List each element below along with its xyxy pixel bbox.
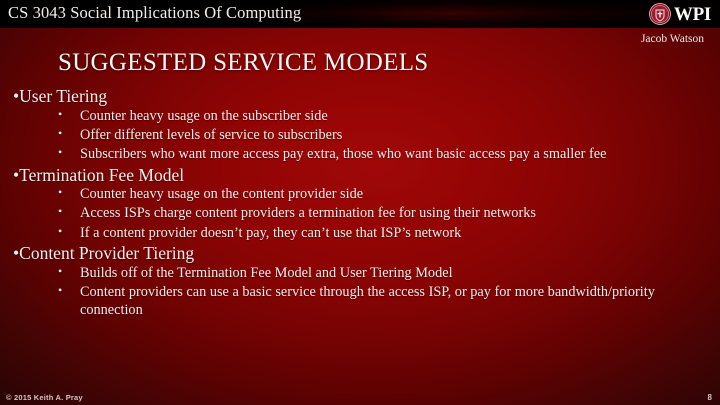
list-item-text: If a content provider doesn’t pay, they …	[80, 225, 461, 241]
sub-bullet-glyph: •	[58, 185, 62, 200]
list-item: •Counter heavy usage on the content prov…	[13, 185, 707, 203]
copyright-notice: © 2015 Keith A. Pray	[6, 393, 83, 402]
list-item-text: Counter heavy usage on the subscriber si…	[80, 108, 328, 124]
sub-bullet-list: •Counter heavy usage on the subscriber s…	[13, 107, 707, 164]
topic-label: Termination Fee Model	[19, 165, 184, 185]
sub-bullet-glyph: •	[58, 107, 62, 122]
topic-group: •User Tiering •Counter heavy usage on th…	[13, 86, 707, 164]
course-title: CS 3043 Social Implications Of Computing	[8, 3, 301, 23]
topic-label: Content Provider Tiering	[19, 243, 194, 263]
list-item-text: Content providers can use a basic servic…	[80, 284, 655, 318]
list-item-text: Access ISPs charge content providers a t…	[80, 205, 536, 221]
sub-bullet-glyph: •	[58, 204, 62, 219]
topic-label: User Tiering	[19, 86, 107, 106]
presenter-name: Jacob Watson	[641, 33, 704, 45]
sub-bullet-glyph: •	[58, 283, 62, 298]
slide-number: 8	[708, 393, 712, 402]
topic-heading: •User Tiering	[13, 86, 707, 107]
sub-bullet-glyph: •	[58, 224, 62, 239]
list-item: •Subscribers who want more access pay ex…	[13, 145, 707, 163]
slide-title: SUGGESTED SERVICE MODELS	[58, 49, 429, 77]
sub-bullet-list: •Counter heavy usage on the content prov…	[13, 185, 707, 242]
list-item-text: Subscribers who want more access pay ext…	[80, 146, 606, 162]
sub-bullet-list: •Builds off of the Termination Fee Model…	[13, 264, 707, 320]
presentation-slide: CS 3043 Social Implications Of Computing…	[0, 0, 720, 405]
list-item: •Counter heavy usage on the subscriber s…	[13, 107, 707, 125]
slide-body: •User Tiering •Counter heavy usage on th…	[13, 86, 707, 321]
list-item-text: Offer different levels of service to sub…	[80, 127, 342, 143]
wpi-logo: WPI	[649, 1, 711, 27]
list-item-text: Counter heavy usage on the content provi…	[80, 186, 363, 202]
topic-group: •Termination Fee Model •Counter heavy us…	[13, 165, 707, 243]
list-item: •Offer different levels of service to su…	[13, 126, 707, 144]
list-item: •Access ISPs charge content providers a …	[13, 204, 707, 222]
topic-heading: •Termination Fee Model	[13, 165, 707, 186]
topic-group: •Content Provider Tiering •Builds off of…	[13, 243, 707, 320]
list-item-text: Builds off of the Termination Fee Model …	[80, 265, 453, 281]
list-item: •Content providers can use a basic servi…	[13, 283, 707, 320]
list-item: •If a content provider doesn’t pay, they…	[13, 224, 707, 242]
sub-bullet-glyph: •	[58, 264, 62, 279]
topic-heading: •Content Provider Tiering	[13, 243, 707, 264]
list-item: •Builds off of the Termination Fee Model…	[13, 264, 707, 282]
sub-bullet-glyph: •	[58, 126, 62, 141]
wpi-seal-icon	[649, 3, 671, 25]
wpi-wordmark: WPI	[674, 5, 711, 24]
sub-bullet-glyph: •	[58, 145, 62, 160]
